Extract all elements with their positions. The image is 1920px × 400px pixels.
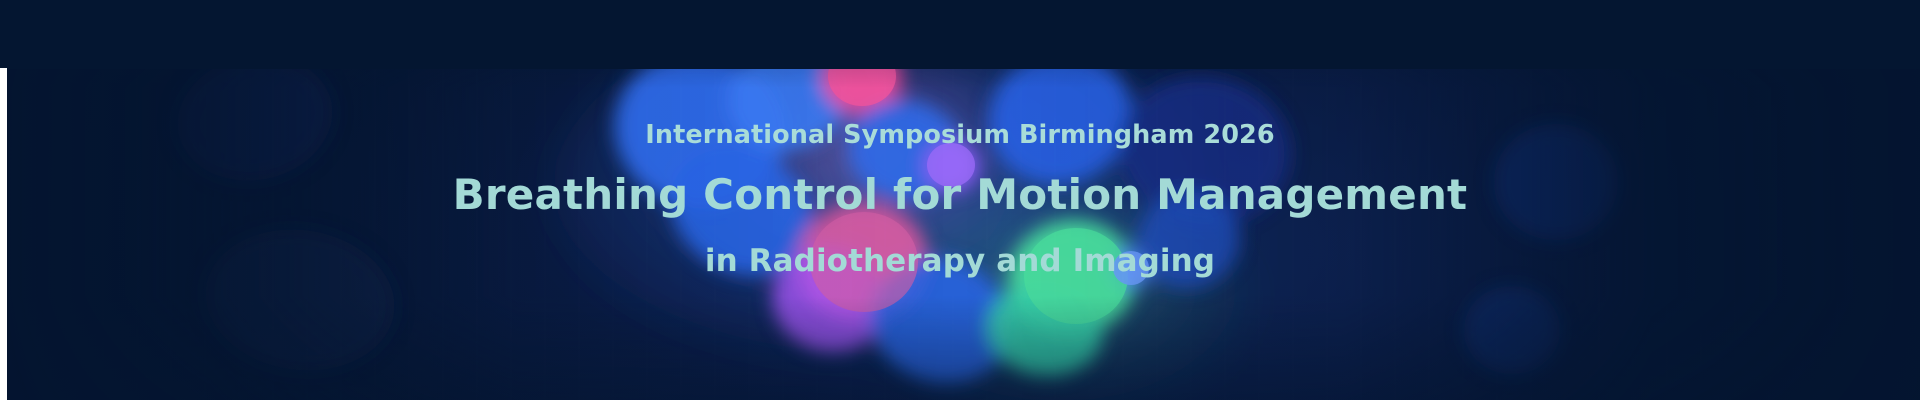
left-edge-strip xyxy=(0,68,7,400)
hero-banner: International Symposium Birmingham 2026 … xyxy=(0,0,1920,400)
top-dark-band xyxy=(0,0,1920,69)
blob-navy-right-low xyxy=(1464,286,1560,374)
blob-navy-right-edge xyxy=(1494,124,1618,240)
blob-navy-left-lower xyxy=(196,217,404,382)
